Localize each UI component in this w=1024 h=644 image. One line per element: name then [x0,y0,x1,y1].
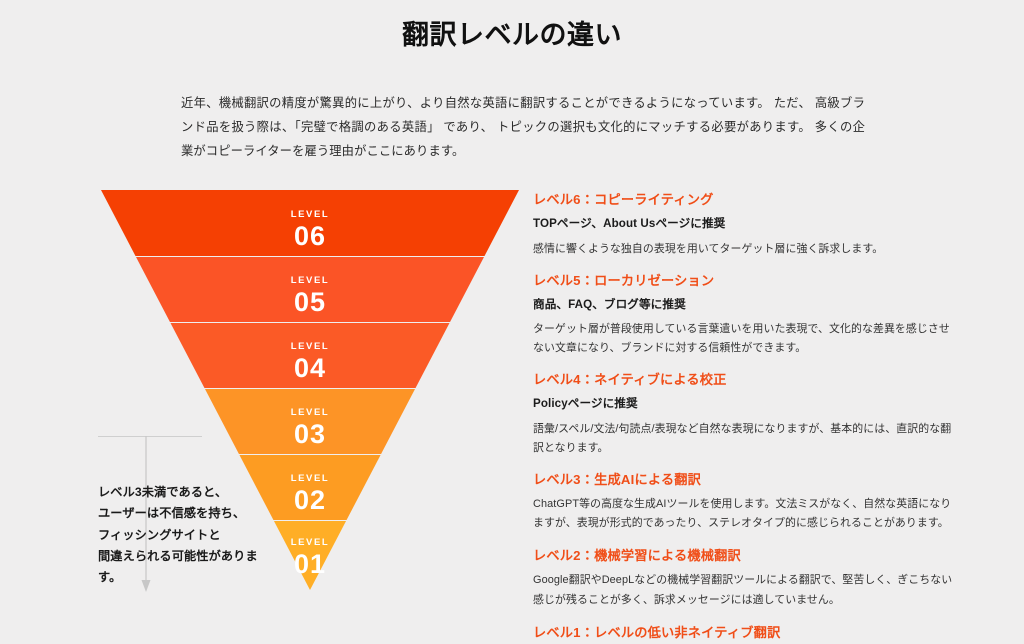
funnel-segment-03[interactable] [101,389,519,454]
level-heading-4: レベル4：ネイティブによる校正 [533,370,958,389]
callout-line-1: レベル3未満であると、 [98,482,278,503]
level-heading-3: レベル3：生成AIによる翻訳 [533,470,958,489]
level-block-6: レベル6：コピーライティング TOPページ、About Usページに推奨 感情に… [533,190,958,259]
funnel-segment-05[interactable] [101,257,519,322]
level-body-5: ターゲット層が普段使用している言葉遣いを用いた表現で、文化的な差異を感じさせない… [533,320,958,358]
level-body-4: 語彙/スペル/文法/句読点/表現など自然な表現になりますが、基本的には、直訳的な… [533,420,958,458]
intro-paragraph: 近年、機械翻訳の精度が驚異的に上がり、より自然な英語に翻訳することができるように… [181,92,865,164]
level-block-2: レベル2：機械学習による機械翻訳 Google翻訳やDeepLなどの機械学習翻訳… [533,546,958,609]
level-descriptions-list: レベル6：コピーライティング TOPページ、About Usページに推奨 感情に… [533,190,958,644]
level-subtitle-5: 商品、FAQ、ブログ等に推奨 [533,296,958,313]
level-heading-6: レベル6：コピーライティング [533,190,958,209]
level-subtitle-4: Policyページに推奨 [533,395,958,412]
level-body-3: ChatGPT等の高度な生成AIツールを使用します。文法ミスがなく、自然な英語に… [533,495,958,533]
level-heading-2: レベル2：機械学習による機械翻訳 [533,546,958,565]
callout-line-4: 間違えられる可能性があります。 [98,546,278,589]
level-heading-5: レベル5：ローカリゼーション [533,271,958,290]
intro-paragraph-container: 近年、機械翻訳の精度が驚異的に上がり、より自然な英語に翻訳することができるように… [181,92,865,164]
level-body-2: Google翻訳やDeepLなどの機械学習翻訳ツールによる翻訳で、堅苦しく、ぎこ… [533,571,958,609]
level-heading-1: レベル1：レベルの低い非ネイティブ翻訳 [533,623,958,642]
level-subtitle-6: TOPページ、About Usページに推奨 [533,215,958,232]
level-body-6: 感情に響くような独自の表現を用いてターゲット層に強く訴求します。 [533,240,958,259]
level-block-3: レベル3：生成AIによる翻訳 ChatGPT等の高度な生成AIツールを使用します… [533,470,958,533]
page-title: 翻訳レベルの違い [0,0,1024,53]
main-content: LEVEL 06 LEVEL 05 LEVEL 04 LEVEL 03 LEVE… [0,182,1024,644]
funnel-segment-04[interactable] [101,323,519,388]
callout-annotation: レベル3未満であると、 ユーザーは不信感を持ち、 フィッシングサイトと 間違えら… [98,482,278,589]
funnel-segment-06[interactable] [101,190,519,256]
callout-line-2: ユーザーは不信感を持ち、 [98,503,278,524]
level-block-1: レベル1：レベルの低い非ネイティブ翻訳 語彙、スペリング、文法、句読点、表現など… [533,623,958,644]
callout-line-3: フィッシングサイトと [98,525,278,546]
level-block-5: レベル5：ローカリゼーション 商品、FAQ、ブログ等に推奨 ターゲット層が普段使… [533,271,958,359]
level-block-4: レベル4：ネイティブによる校正 Policyページに推奨 語彙/スペル/文法/句… [533,370,958,458]
